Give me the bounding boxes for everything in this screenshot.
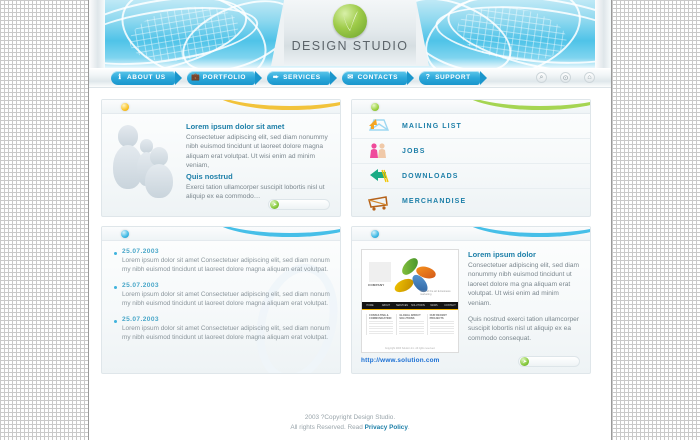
nav-label: SERVICES [283,74,321,81]
nav-label: CONTACTS [358,74,398,81]
thumb-nav: HOME ABOUT SERVICES SOLUTIONS NEWS CONTA… [362,302,458,309]
news-text: Lorem ipsum dolor sit amet Consectetuer … [122,290,330,308]
header-mesh-left [125,0,242,68]
thumb-nav-item: HOME [362,304,378,307]
link-label: DOWNLOADS [402,173,459,180]
logo-plate[interactable]: DESIGN STUDIO [284,0,416,66]
news-date: 25.07.2003 [122,248,330,255]
intro-panel: Lorem ipsum dolor sit amet Consectetuer … [101,99,341,217]
rights-line: All rights Reserved. Read Privacy Policy… [89,423,611,433]
news-text: Lorem ipsum dolor sit amet Consectetuer … [122,324,330,342]
panel-swoosh [460,100,590,110]
thumb-column-title: GLOBAL IMPACT SOLUTIONS [399,314,423,320]
leaf-v-mark-icon [333,4,367,38]
link-row-downloads[interactable]: DOWNLOADS [352,164,590,189]
nav-item-support[interactable]: ? SUPPORT [419,71,480,85]
panel-header [102,227,340,241]
panel-swoosh [210,100,340,110]
news-text: Lorem ipsum dolor sit amet Consectetuer … [122,256,330,274]
showcase-paragraph: Consectetuer adipiscing elit, sed diam n… [468,261,581,308]
envelope-icon: ✉ [347,74,355,82]
showcase-heading: Lorem ipsum dolor [468,249,581,260]
search-icon[interactable]: ⌕ [536,72,547,83]
link-label: MAILING LIST [402,123,462,130]
bullet-icon [114,252,117,255]
download-arrow-icon [366,166,392,186]
news-item[interactable]: 25.07.2003 Lorem ipsum dolor sit amet Co… [114,248,330,274]
nav-item-about-us[interactable]: ℹ ABOUT US [111,71,175,85]
panel-header [352,100,590,114]
cart-icon [366,192,392,212]
quick-links-panel: MAILING LIST JOBS [351,99,591,217]
showcase-url-link[interactable]: http://www.solution.com [361,357,459,364]
thumb-column: OUR RECENT PROJECTS [427,314,454,335]
thumb-nav-item: CONTACT [442,304,458,307]
thumb-footer: Copyright 2003 Solution Inc. All rights … [362,347,458,350]
thumb-column-title: OUR RECENT PROJECTS [430,314,454,320]
intro-subheading: Quis nostrud [186,171,330,182]
link-row-mailing-list[interactable]: MAILING LIST [352,114,590,139]
thumb-nav-item: SERVICES [394,304,410,307]
thumb-logo-placeholder [369,262,391,282]
link-row-jobs[interactable]: JOBS [352,139,590,164]
link-label: MERCHANDISE [402,198,466,205]
nav-label: ABOUT US [127,74,166,81]
intro-go-button[interactable]: ➤ [268,199,330,210]
main-navigation: ℹ ABOUT US 💼 PORTFOLIO ➨ SERVICES ✉ CONT… [89,68,611,88]
nav-label: SUPPORT [435,74,471,81]
thumb-columns: CONSULTING & COMMUNICATION GLOBAL IMPACT… [362,310,458,335]
rights-prefix: All rights Reserved. Read [290,424,364,431]
content-area: Lorem ipsum dolor sit amet Consectetuer … [89,88,611,374]
panel-status-dot [121,230,129,238]
news-panel: 25.07.2003 Lorem ipsum dolor sit amet Co… [101,226,341,374]
question-icon: ? [424,74,432,82]
panel-status-dot [371,230,379,238]
thumb-nav-item: ABOUT [378,304,394,307]
briefcase-icon: 💼 [192,74,200,82]
thumb-nav-item: NEWS [426,304,442,307]
nav-tools: ⌕ ⊙ ⌂ [536,72,611,83]
bullet-icon [114,320,117,323]
link-row-merchandise[interactable]: MERCHANDISE [352,189,590,214]
nav-label: PORTFOLIO [203,74,246,81]
go-arrow-icon: ➤ [270,200,279,209]
panel-header [102,100,340,114]
panel-header [352,227,590,241]
settings-icon[interactable]: ⊙ [560,72,571,83]
thumb-column: GLOBAL IMPACT SOLUTIONS [396,314,423,335]
panel-status-dot [371,103,379,111]
intro-paragraph: Consectetuer adipiscing elit, sed diam n… [186,133,330,171]
page-container: DESIGN STUDIO ℹ ABOUT US 💼 PORTFOLIO ➨ S… [88,0,612,440]
showcase-go-button[interactable]: ➤ [518,356,580,367]
nav-item-services[interactable]: ➨ SERVICES [267,71,330,85]
panel-swoosh [210,227,340,237]
petal-shape [393,276,416,295]
thumb-nav-item: SOLUTIONS [410,304,426,307]
info-icon: ℹ [116,74,124,82]
panel-status-dot [121,103,129,111]
thumb-column: CONSULTING & COMMUNICATION [366,314,393,335]
wrench-icon: ➨ [272,74,280,82]
showcase-panel: COMPANY State of the art E-business mark… [351,226,591,374]
thumb-company-label: COMPANY [368,283,385,287]
panel-swoosh [460,227,590,237]
showcase-paragraph-2: Quis nostrud exerci tation ullamcorper s… [468,315,581,343]
privacy-policy-link[interactable]: Privacy Policy [365,424,408,431]
news-item[interactable]: 25.07.2003 Lorem ipsum dolor sit amet Co… [114,316,330,342]
bullet-icon [114,286,117,289]
news-date: 25.07.2003 [122,282,330,289]
home-icon[interactable]: ⌂ [584,72,595,83]
thumb-column-title: CONSULTING & COMMUNICATION [369,314,393,320]
header-mesh-right [454,1,570,68]
nav-item-contacts[interactable]: ✉ CONTACTS [342,71,407,85]
link-label: JOBS [402,148,425,155]
thumb-tagline: State of the art E-business marketing [420,290,456,297]
people-illustration-icon [112,121,178,201]
showcase-thumbnail-wrap: COMPANY State of the art E-business mark… [361,249,459,364]
rights-suffix: . [408,424,410,431]
nav-item-portfolio[interactable]: 💼 PORTFOLIO [187,71,255,85]
go-arrow-icon: ➤ [520,357,529,366]
site-footer: 2003 ?Copyright Design Studio. All right… [89,413,611,432]
intro-heading: Lorem ipsum dolor sit amet [186,121,330,132]
news-date: 25.07.2003 [122,316,330,323]
website-thumbnail[interactable]: COMPANY State of the art E-business mark… [361,249,459,353]
people-icon [366,141,392,161]
site-title: DESIGN STUDIO [284,39,416,53]
site-header: DESIGN STUDIO [89,0,611,68]
news-item[interactable]: 25.07.2003 Lorem ipsum dolor sit amet Co… [114,282,330,308]
copyright-line: 2003 ?Copyright Design Studio. [89,413,611,423]
mail-arrow-icon [366,116,392,136]
